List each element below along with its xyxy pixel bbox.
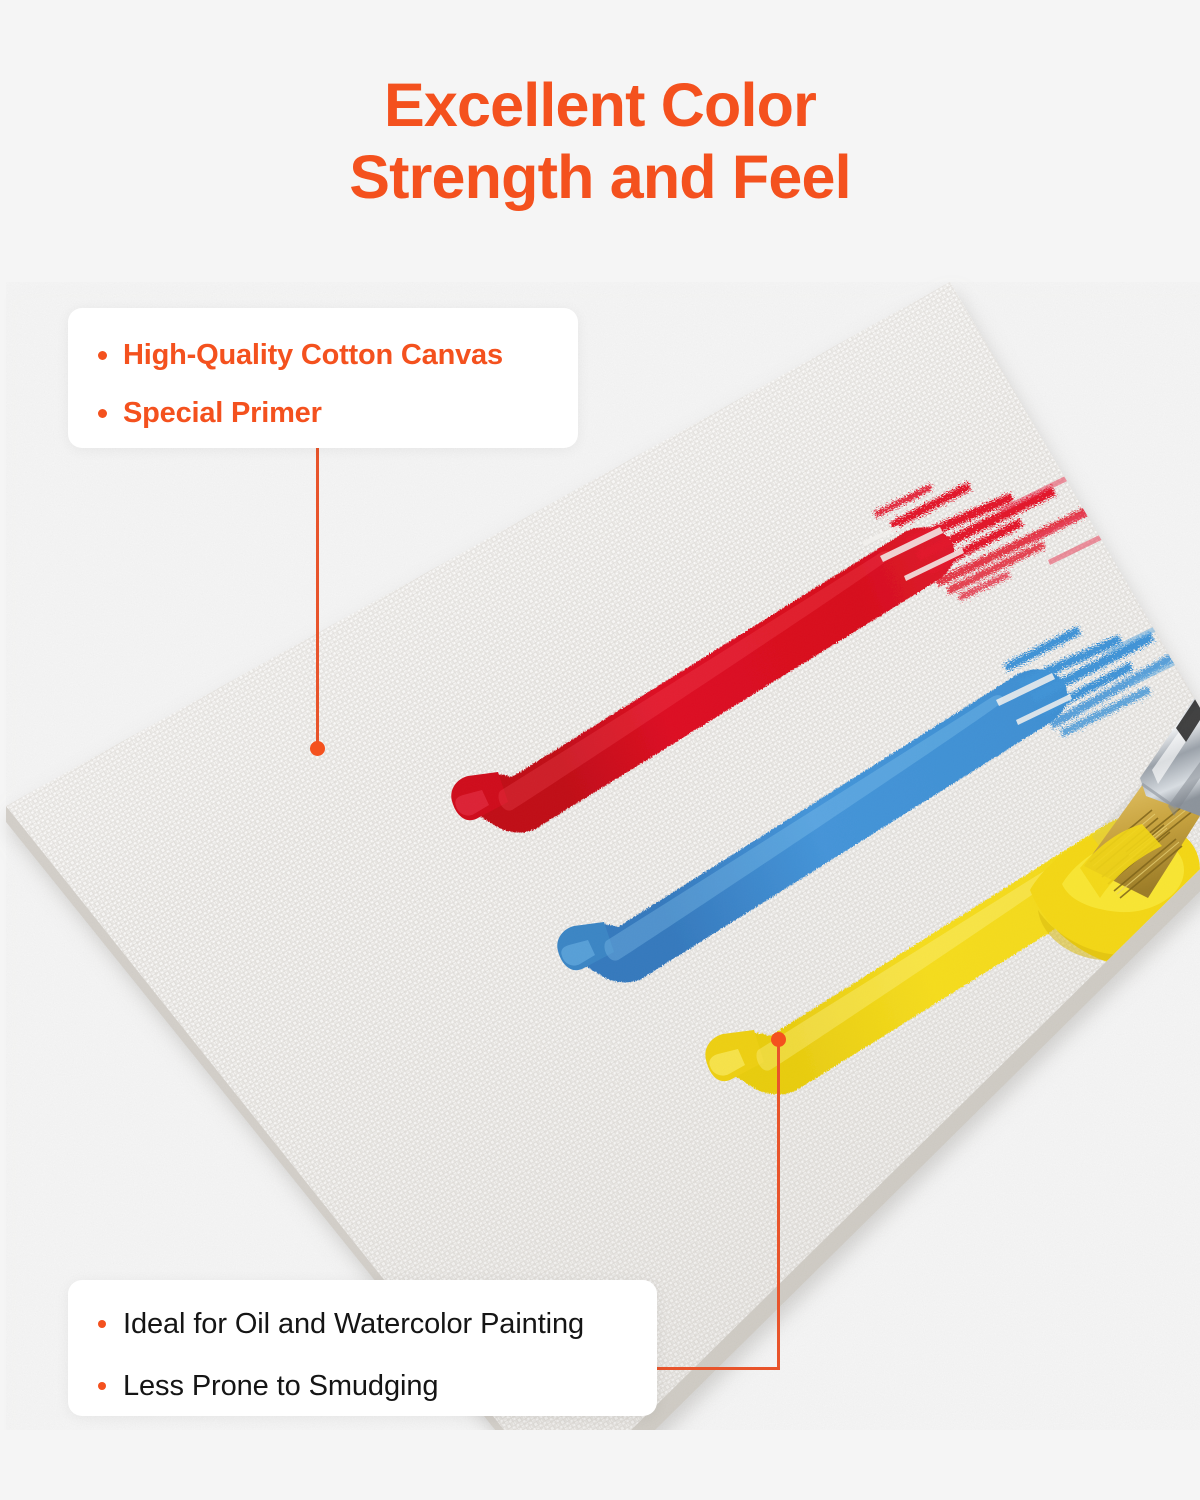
page-title-line-2: Strength and Feel (0, 142, 1200, 214)
callout-card-bottom: Ideal for Oil and Watercolor Painting Le… (68, 1280, 657, 1416)
leader-line-top (316, 448, 319, 748)
leader-line-bottom-horizontal (657, 1367, 780, 1370)
callout-top-bullet-1: High-Quality Cotton Canvas (123, 341, 503, 370)
callout-top-bullet-2: Special Primer (123, 399, 322, 428)
bullet-dot-icon (98, 1382, 106, 1390)
list-item: High-Quality Cotton Canvas (98, 331, 552, 379)
leader-dot-top (310, 741, 325, 756)
bullet-dot-icon (98, 409, 107, 418)
callout-bottom-bullet-2: Less Prone to Smudging (123, 1372, 438, 1401)
canvas-grain-overlay (6, 282, 1200, 1430)
leader-dot-bottom (771, 1032, 786, 1047)
bullet-dot-icon (98, 1320, 106, 1328)
callout-card-top: High-Quality Cotton Canvas Special Prime… (68, 308, 578, 448)
list-item: Special Primer (98, 389, 552, 437)
page-title-line-1: Excellent Color (0, 70, 1200, 142)
leader-line-bottom-vertical (777, 1039, 780, 1370)
callout-bottom-bullet-1: Ideal for Oil and Watercolor Painting (123, 1310, 584, 1339)
page-title: Excellent Color Strength and Feel (0, 70, 1200, 214)
bullet-dot-icon (98, 351, 107, 360)
list-item: Ideal for Oil and Watercolor Painting (98, 1300, 631, 1348)
list-item: Less Prone to Smudging (98, 1362, 631, 1410)
infographic-canvas: Excellent Color Strength and Feel (0, 0, 1200, 1500)
